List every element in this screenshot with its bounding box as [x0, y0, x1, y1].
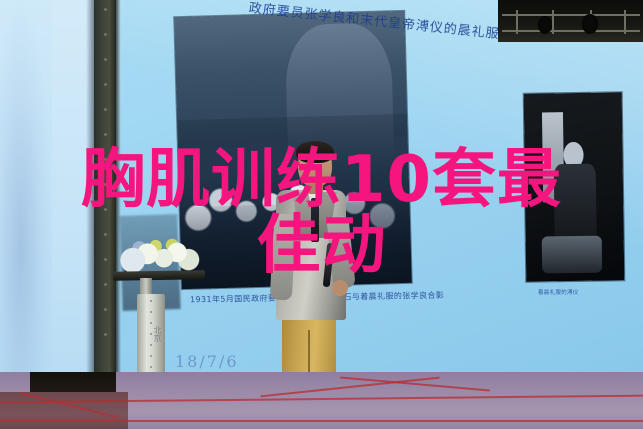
ceiling-truss [498, 0, 643, 42]
floor-line [0, 420, 643, 422]
speaker-tie [311, 198, 319, 242]
photo-scene: 政府要员张学良和末代皇帝溥仪的晨礼服 1931年5月国民政府要员着中山装的蒋介石… [0, 0, 643, 429]
column-rivets [104, 8, 107, 400]
stage-light [538, 16, 552, 34]
historical-portrait-photo [524, 92, 625, 281]
speaker-hair [296, 141, 334, 163]
flower-arrangement [118, 238, 200, 274]
date-stamp: 18/7/6 [175, 352, 239, 371]
stage-column [94, 0, 116, 392]
panel-gap-shadow [86, 0, 94, 398]
projection-screen-left-ghost-image [0, 0, 52, 398]
speaker-hand [332, 280, 348, 296]
podium-top [113, 270, 205, 281]
stage-light [582, 14, 598, 34]
stage-floor-left [0, 392, 128, 429]
slide-caption-right: 着晨礼服的溥仪 [538, 288, 579, 296]
speaker-arm-left [270, 213, 296, 300]
podium-vertical-text: 北京 [142, 326, 162, 342]
